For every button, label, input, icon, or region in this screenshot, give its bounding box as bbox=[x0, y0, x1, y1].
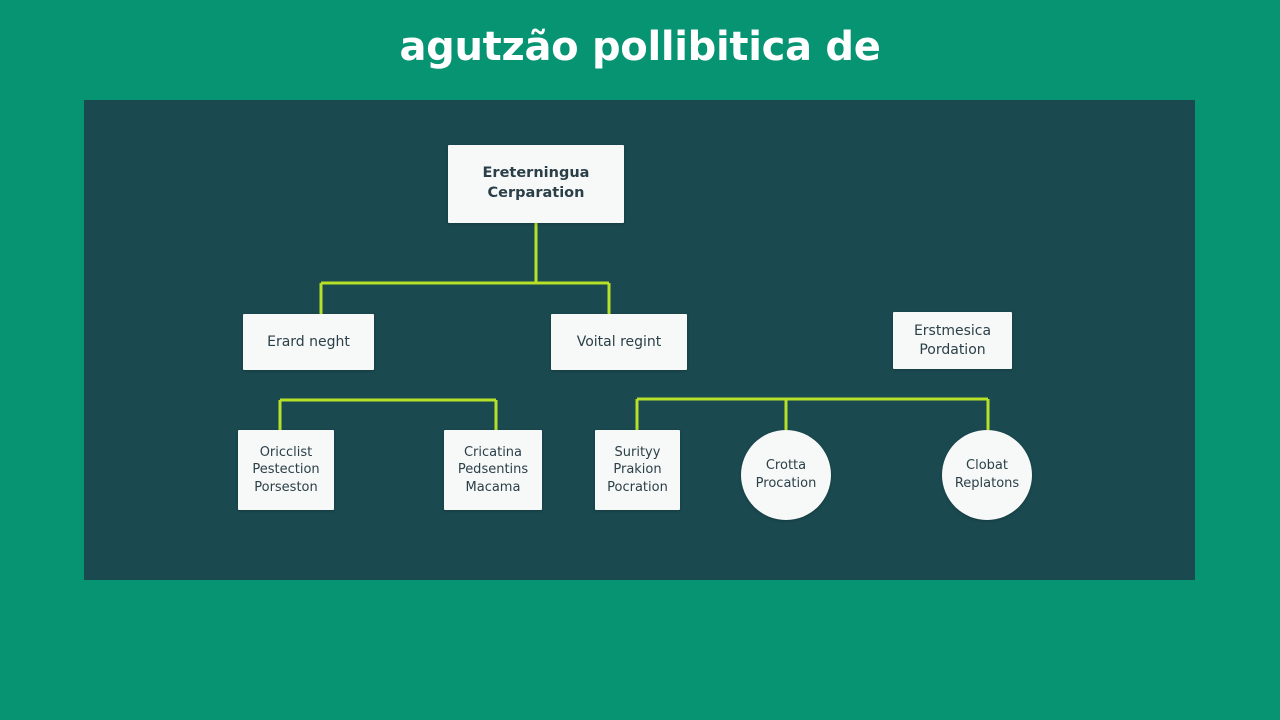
node-cricatina-pedsentins-label: Cricatina Pedsentins Macama bbox=[452, 442, 534, 499]
node-voital-regint-label: Voital regint bbox=[571, 331, 668, 354]
diagram-panel: Ereterningua Cerparation Erard neght Voi… bbox=[84, 100, 1195, 580]
node-voital-regint[interactable]: Voital regint bbox=[551, 314, 687, 370]
node-clobat-replatons[interactable]: Clobat Replatons bbox=[942, 430, 1032, 520]
node-erstmesica-pordation[interactable]: Erstmesica Pordation bbox=[893, 312, 1012, 369]
node-cricatina-pedsentins[interactable]: Cricatina Pedsentins Macama bbox=[444, 430, 542, 510]
node-crotta-procation-label: Crotta Procation bbox=[750, 455, 823, 494]
node-erard-neght-label: Erard neght bbox=[261, 331, 356, 354]
node-erstmesica-pordation-label: Erstmesica Pordation bbox=[908, 320, 997, 362]
node-surityy-prakion[interactable]: Surityy Prakion Pocration bbox=[595, 430, 680, 510]
node-root-label: Ereterningua Cerparation bbox=[477, 162, 596, 205]
node-root[interactable]: Ereterningua Cerparation bbox=[448, 145, 624, 223]
node-oricclist-pestection[interactable]: Oricclist Pestection Porseston bbox=[238, 430, 334, 510]
node-oricclist-pestection-label: Oricclist Pestection Porseston bbox=[246, 442, 325, 499]
node-crotta-procation[interactable]: Crotta Procation bbox=[741, 430, 831, 520]
slide-canvas: agutzão pollibitica de bbox=[0, 0, 1280, 720]
page-title: agutzão pollibitica de bbox=[0, 24, 1280, 70]
node-erard-neght[interactable]: Erard neght bbox=[243, 314, 374, 370]
node-surityy-prakion-label: Surityy Prakion Pocration bbox=[601, 442, 674, 499]
node-clobat-replatons-label: Clobat Replatons bbox=[949, 455, 1025, 494]
